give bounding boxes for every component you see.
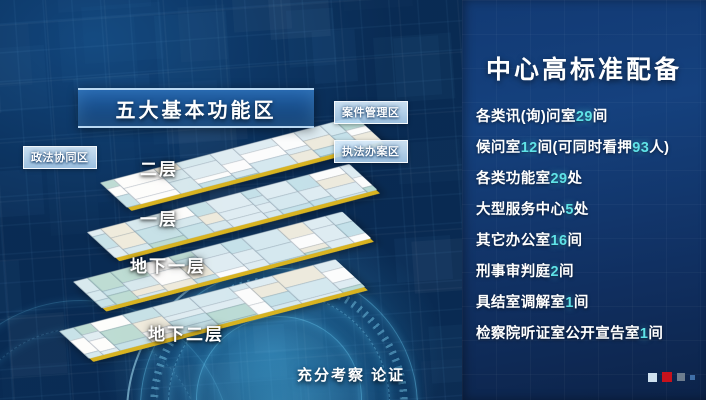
floor-room-cell — [181, 160, 229, 181]
floor-room-cell — [197, 212, 227, 226]
floor-2f-label: 二层 — [140, 155, 178, 180]
spec-number: 1 — [565, 295, 573, 311]
scene-title-text: 五大基本功能区 — [116, 94, 277, 123]
spec-text: 人) — [649, 140, 669, 156]
mosaic-tile — [154, 11, 232, 93]
spec-text: 大型服务中心 — [476, 202, 565, 218]
mosaic-tile — [393, 36, 442, 98]
mosaic-tile — [0, 168, 45, 218]
spec-text: 各类功能室 — [476, 171, 551, 187]
item-interrogation-rooms: 各类讯(询)问室29间 — [476, 102, 700, 133]
spec-number: 16 — [551, 233, 568, 249]
status-dot-3 — [677, 373, 685, 381]
item-other-offices: 其它办公室16间 — [476, 226, 700, 257]
status-dot-2 — [662, 372, 672, 382]
status-dot-group — [648, 372, 695, 382]
scene-title-banner: 五大基本功能区 — [78, 88, 314, 128]
spec-text: 间(可同时看押 — [538, 140, 633, 156]
floor-b2-label: 地下二层 — [148, 320, 224, 345]
spec-number: 29 — [551, 171, 568, 187]
spec-list: 各类讯(询)问室29间候问室12间(可同时看押93人)各类功能室29处大型服务中… — [476, 102, 700, 350]
spec-text: 处 — [574, 202, 589, 218]
spec-number: 5 — [565, 202, 573, 218]
spec-text: 间 — [574, 295, 589, 311]
slide-root: 二层一层地下一层地下二层 五大基本功能区 案件管理区执法办案区政法协同区 充分考… — [0, 0, 706, 400]
floor-room-cell — [81, 330, 107, 342]
mosaic-tile — [341, 0, 413, 11]
item-function-rooms: 各类功能室29处 — [476, 164, 700, 195]
spec-number: 12 — [521, 140, 538, 156]
spec-panel: 中心高标准配备 各类讯(询)问室29间候问室12间(可同时看押93人)各类功能室… — [462, 0, 706, 400]
spec-text: 间 — [559, 264, 574, 280]
mosaic-tile — [0, 23, 32, 89]
item-service-centers: 大型服务中心5处 — [476, 195, 700, 226]
floor-room-cell — [99, 323, 148, 346]
mosaic-tile — [411, 236, 468, 294]
spec-number: 29 — [576, 109, 593, 125]
floor-room-cell — [230, 167, 261, 179]
building-3d-scene: 二层一层地下一层地下二层 五大基本功能区 案件管理区执法办案区政法协同区 充分考… — [0, 0, 468, 400]
spec-text: 具结室调解室 — [476, 295, 565, 311]
mosaic-tile — [286, 8, 337, 68]
floor-room-cell — [262, 209, 291, 224]
spec-text: 间 — [593, 109, 608, 125]
floor-room-cell — [216, 313, 270, 336]
zone-case-management[interactable]: 案件管理区 — [334, 101, 408, 124]
floor-1f-label: 一层 — [140, 205, 178, 230]
item-mediation-room: 具结室调解室1间 — [476, 288, 700, 319]
spec-text: 候问室 — [476, 140, 521, 156]
floor-room-cell — [90, 314, 135, 333]
spec-text: 间 — [567, 233, 582, 249]
spec-text: 处 — [567, 171, 582, 187]
footer-caption: 充分考察 论证 — [297, 364, 405, 385]
zone-judicial-coordination[interactable]: 政法协同区 — [23, 146, 97, 169]
mosaic-tile — [58, 16, 138, 83]
floor-room-cell — [59, 327, 86, 342]
floor-room-cell — [242, 258, 274, 272]
spec-number: 93 — [632, 140, 649, 156]
floor-room-cell — [88, 337, 119, 353]
status-dot-1 — [648, 373, 657, 382]
spec-text: 刑事审判庭 — [476, 264, 551, 280]
status-dot-4 — [690, 375, 695, 380]
item-procuratorate-room: 检察院听证室公开宣告室1间 — [476, 319, 700, 350]
spec-text: 间 — [648, 326, 663, 342]
floor-room-cell — [73, 323, 101, 336]
item-waiting-rooms: 候问室12间(可同时看押93人) — [476, 133, 700, 164]
spec-text: 各类讯(询)问室 — [476, 109, 576, 125]
zone-law-enforcement[interactable]: 执法办案区 — [334, 140, 408, 163]
spec-number: 2 — [551, 264, 559, 280]
mosaic-tile — [0, 260, 22, 317]
floor-b1-label: 地下一层 — [130, 252, 206, 277]
item-criminal-court: 刑事审判庭2间 — [476, 257, 700, 288]
spec-text: 检察院听证室公开宣告室 — [476, 326, 640, 342]
panel-title: 中心高标准配备 — [462, 50, 706, 86]
spec-text: 其它办公室 — [476, 233, 551, 249]
